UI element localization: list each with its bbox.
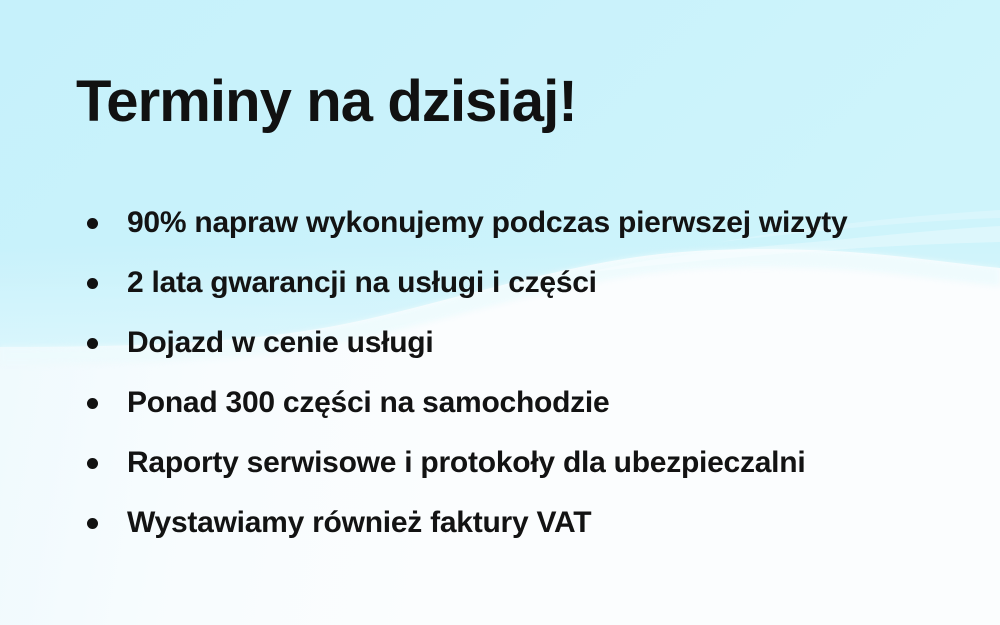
bullet-dot-icon: [87, 458, 98, 469]
list-item: Dojazd w cenie usługi: [76, 313, 976, 373]
page-title: Terminy na dzisiaj!: [76, 70, 577, 134]
list-item: 2 lata gwarancji na usługi i części: [76, 253, 976, 313]
slide-content: Terminy na dzisiaj! 90% napraw wykonujem…: [0, 0, 1000, 625]
slide: Terminy na dzisiaj! 90% napraw wykonujem…: [0, 0, 1000, 625]
list-item: 90% napraw wykonujemy podczas pierwszej …: [76, 193, 976, 253]
bullet-dot-icon: [87, 398, 98, 409]
bullet-list: 90% napraw wykonujemy podczas pierwszej …: [76, 193, 976, 553]
list-item: Raporty serwisowe i protokoły dla ubezpi…: [76, 433, 976, 493]
list-item-label: 2 lata gwarancji na usługi i części: [127, 266, 597, 300]
list-item-label: Wystawiamy również faktury VAT: [127, 506, 591, 540]
list-item-label: 90% napraw wykonujemy podczas pierwszej …: [127, 206, 847, 240]
bullet-dot-icon: [87, 278, 98, 289]
list-item: Wystawiamy również faktury VAT: [76, 493, 976, 553]
list-item-label: Ponad 300 części na samochodzie: [127, 386, 609, 420]
bullet-dot-icon: [87, 338, 98, 349]
bullet-dot-icon: [87, 518, 98, 529]
list-item-label: Dojazd w cenie usługi: [127, 326, 433, 360]
list-item-label: Raporty serwisowe i protokoły dla ubezpi…: [127, 446, 805, 480]
list-item: Ponad 300 części na samochodzie: [76, 373, 976, 433]
bullet-dot-icon: [87, 218, 98, 229]
